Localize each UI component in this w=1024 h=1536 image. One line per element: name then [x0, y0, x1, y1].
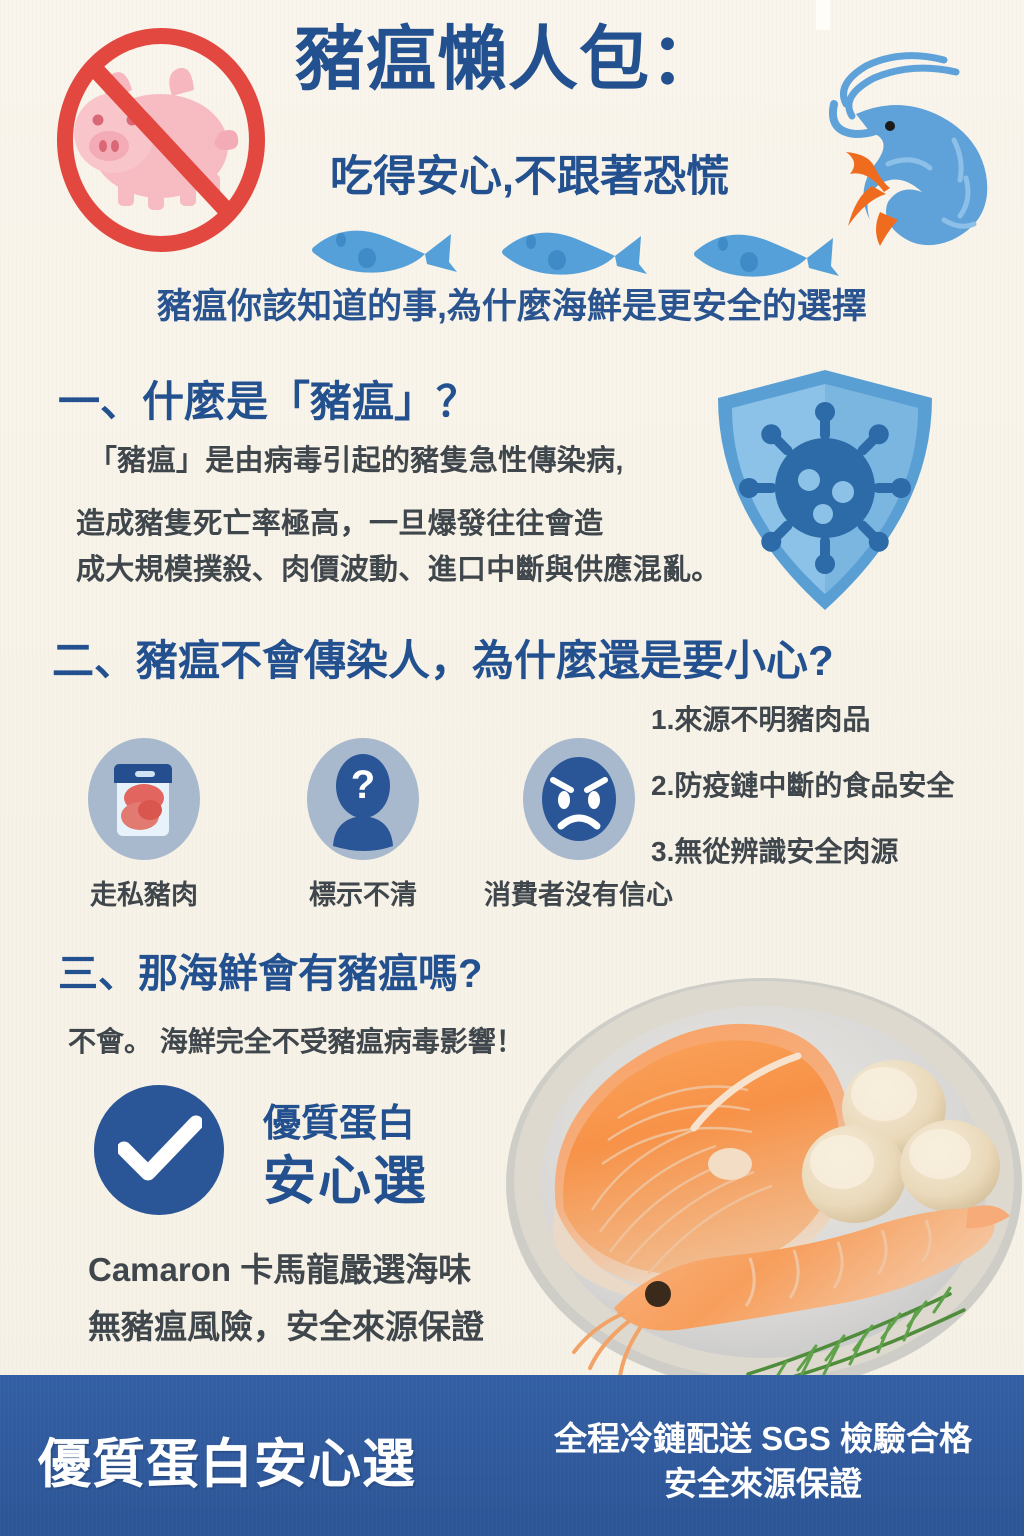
subtitle-bar: 豬瘟你該知道的事,為什麼海鮮是更安全的選擇: [0, 278, 1024, 329]
infographic-poster: 豬瘟懶人包： 吃得安心,不跟著恐慌: [0, 0, 1024, 1536]
packaged-meat-icon: [88, 738, 200, 860]
icon-label: 標示不清: [307, 873, 419, 912]
section3-answer: 不會。 海鮮完全不受豬瘟病毒影響！: [68, 1020, 524, 1060]
angry-face-icon: [523, 738, 635, 860]
list-item: 1.來源不明豬肉品: [651, 698, 954, 738]
section2-point-list: 1.來源不明豬肉品 2.防疫鏈中斷的食品安全 3.無從辨識安全肉源: [651, 698, 954, 896]
icon-label: 消費者沒有信心: [484, 873, 673, 912]
icon-item-smuggled-pork: 走私豬肉: [88, 738, 200, 912]
safe-choice-label: 安心選: [263, 1139, 428, 1215]
section1-line-2: 造成豬隻死亡率極高，一旦爆發往往會造: [76, 500, 603, 542]
section1-heading: 一、什麼是「豬瘟」？: [58, 368, 478, 429]
no-pork-icon: [52, 28, 270, 253]
footer-certification: 全程冷鏈配送 SGS 檢驗合格 安全來源保證: [528, 1417, 998, 1506]
section3-heading: 三、那海鮮會有豬瘟嗎?: [58, 941, 482, 999]
footer-line-1: 全程冷鏈配送 SGS 檢驗合格: [528, 1417, 998, 1462]
page-title: 豬瘟懶人包：: [295, 24, 855, 94]
header: 豬瘟懶人包： 吃得安心,不跟著恐慌: [0, 0, 1024, 272]
svg-text:?: ?: [351, 763, 375, 807]
guarantee-text: 無豬瘟風險，安全來源保證: [88, 1300, 484, 1348]
list-item: 2.防疫鏈中斷的食品安全: [651, 764, 954, 804]
footer-banner: 優質蛋白安心選 全程冷鏈配送 SGS 檢驗合格 安全來源保證: [0, 1375, 1024, 1536]
brand-name: Camaron 卡馬龍嚴選海味: [88, 1243, 471, 1291]
icon-item-unclear-label: ? 標示不清: [307, 738, 419, 912]
section1-line-1: 「豬瘟」是由病毒引起的豬隻急性傳染病,: [88, 437, 624, 479]
footer-slogan: 優質蛋白安心選: [38, 1422, 416, 1498]
seafood-plate-photo: [498, 958, 1024, 1410]
section2-heading: 二、豬瘟不會傳染人，為什麼還是要小心?: [52, 627, 834, 688]
footer-line-2: 安全來源保證: [528, 1462, 998, 1507]
unknown-person-icon: ?: [307, 738, 419, 860]
icon-label: 走私豬肉: [88, 873, 200, 912]
list-item: 3.無從辨識安全肉源: [651, 830, 954, 870]
shield-virus-icon: [706, 364, 944, 616]
section1-line-3: 成大規模撲殺、肉價波動、進口中斷與供應混亂。: [76, 546, 721, 588]
page-subtitle: 吃得安心,不跟著恐慌: [330, 142, 860, 204]
icon-item-no-confidence: 消費者沒有信心: [484, 738, 673, 912]
fish-icon-row: [305, 216, 865, 282]
check-circle-icon: [94, 1085, 224, 1215]
